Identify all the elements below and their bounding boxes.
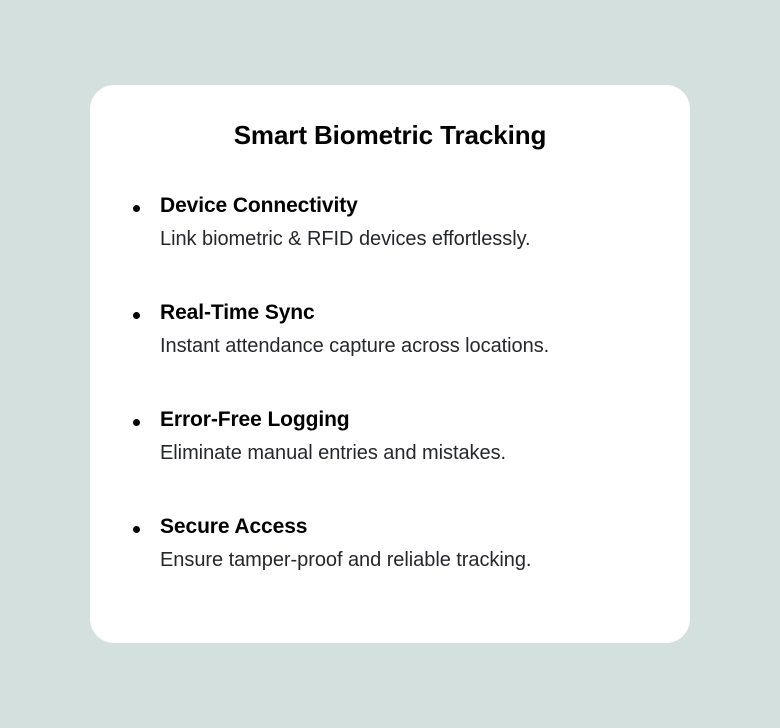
feature-heading: Device Connectivity: [160, 193, 674, 219]
list-item: Real-Time Sync Instant attendance captur…: [114, 300, 674, 407]
list-item: Device Connectivity Link biometric & RFI…: [114, 193, 674, 300]
bullet-dot-icon: [133, 312, 140, 319]
page-title: Smart Biometric Tracking: [90, 119, 690, 151]
bullet-dot-icon: [133, 205, 140, 212]
feature-card: Smart Biometric Tracking Device Connecti…: [90, 85, 690, 643]
feature-list: Device Connectivity Link biometric & RFI…: [114, 193, 674, 621]
feature-heading: Real-Time Sync: [160, 300, 674, 326]
list-item: Error-Free Logging Eliminate manual entr…: [114, 407, 674, 514]
feature-description: Link biometric & RFID devices effortless…: [160, 225, 674, 253]
feature-heading: Error-Free Logging: [160, 407, 674, 433]
page-root: Smart Biometric Tracking Device Connecti…: [0, 0, 780, 728]
feature-description: Instant attendance capture across locati…: [160, 332, 674, 360]
feature-heading: Secure Access: [160, 514, 674, 540]
bullet-dot-icon: [133, 419, 140, 426]
bullet-dot-icon: [133, 526, 140, 533]
feature-description: Eliminate manual entries and mistakes.: [160, 439, 674, 467]
feature-description: Ensure tamper-proof and reliable trackin…: [160, 546, 674, 574]
list-item: Secure Access Ensure tamper-proof and re…: [114, 514, 674, 621]
